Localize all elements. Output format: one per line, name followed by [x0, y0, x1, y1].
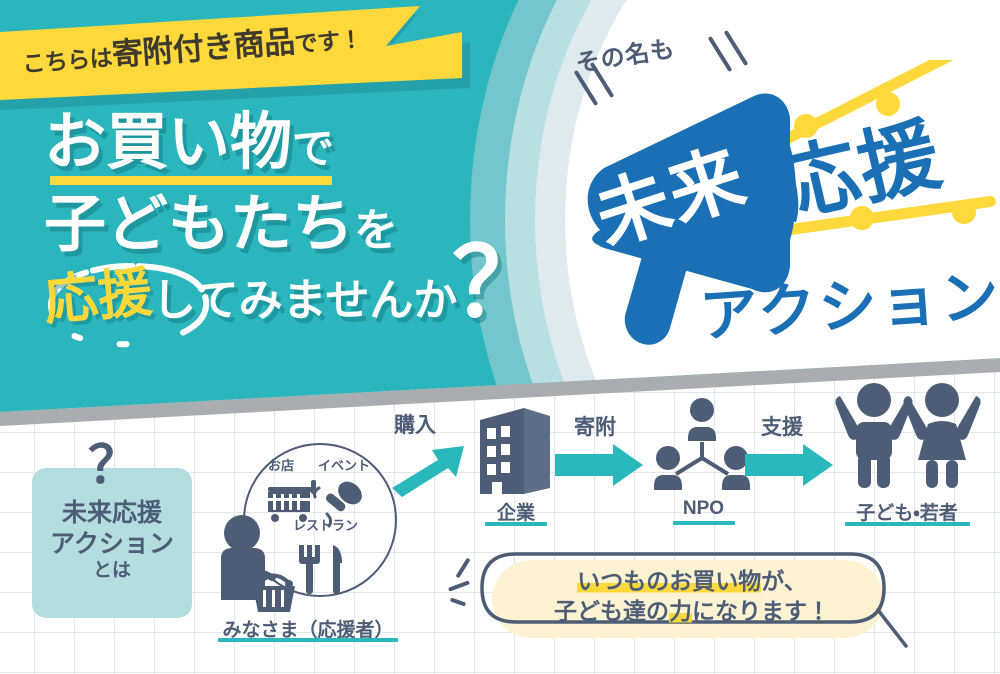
headline-line1-small: で	[292, 125, 334, 172]
shopping-cart-icon	[268, 480, 316, 522]
fork-knife-icon	[299, 545, 342, 594]
office-building-icon	[470, 398, 560, 498]
speech-bubble-line-1: いつものお買い物が、	[512, 566, 872, 596]
person-with-basket-icon	[221, 515, 295, 612]
whatis-label: 未来応援 アクション とは	[32, 498, 192, 582]
supporter-icon-group	[215, 440, 415, 620]
speech-line1-highlight: いつものお買い物	[577, 568, 761, 594]
flow-label-donation: 寄附	[574, 411, 616, 441]
speech-line1-tail: が、	[761, 568, 807, 594]
people-network-icon	[650, 396, 755, 496]
supporter-label-underline	[218, 638, 398, 642]
flow-label-purchase: 購入	[394, 409, 436, 439]
headline-line3-rest: してみませんか	[152, 276, 457, 325]
flow-label-support: 支援	[761, 411, 803, 441]
speech-line2-head: 子ども達の	[554, 598, 669, 624]
whatis-question-icon: ？	[88, 440, 140, 492]
speech-bubble-text: いつものお買い物が、 子ども達の力になります！	[512, 566, 872, 627]
arrow-right-icon-donation	[555, 442, 645, 488]
headline-line-1: お買い物で	[44, 112, 564, 174]
arrow-right-icon-support	[745, 442, 835, 488]
speech-bubble-line-2: 子ども達の力になります！	[512, 596, 872, 626]
whatis-line-1: 未来応援	[32, 498, 192, 529]
banner-root: こちらは寄附付き商品です！ お買い物で 子どもたちを 応援 してみませんか ？ …	[0, 0, 1000, 674]
node-label-company-underline	[485, 522, 547, 526]
node-label-npo-underline	[673, 521, 735, 525]
arrow-up-right-icon	[390, 440, 470, 500]
headline-stamp-oen: 応援	[42, 265, 154, 328]
headline-line2-main: 子どもたち	[44, 190, 354, 259]
headline-line1-main: お買い物	[44, 108, 292, 177]
microphone-icon	[315, 477, 367, 526]
node-label-npo: NPO	[656, 498, 751, 520]
whatis-line-3: とは	[32, 559, 192, 582]
node-label-children: 子ども・若者	[832, 498, 982, 525]
ribbon-prefix: こちらは	[21, 44, 113, 77]
headline-question-mark: ？	[452, 236, 548, 332]
ribbon-suffix: です！	[294, 26, 363, 57]
node-label-company: 企業	[476, 498, 556, 525]
node-label-children-underline	[845, 522, 970, 526]
mirai-oen-action-logo: 未来 応援 アクション	[540, 60, 1000, 360]
headline-underline	[50, 176, 332, 185]
headline-line2-small: を	[354, 206, 398, 255]
children-cheering-icon	[832, 378, 982, 498]
speech-line2-tail: になります！	[692, 598, 830, 624]
whatis-line-2: アクション	[32, 529, 192, 560]
speech-line2-highlight: 力	[669, 598, 692, 624]
